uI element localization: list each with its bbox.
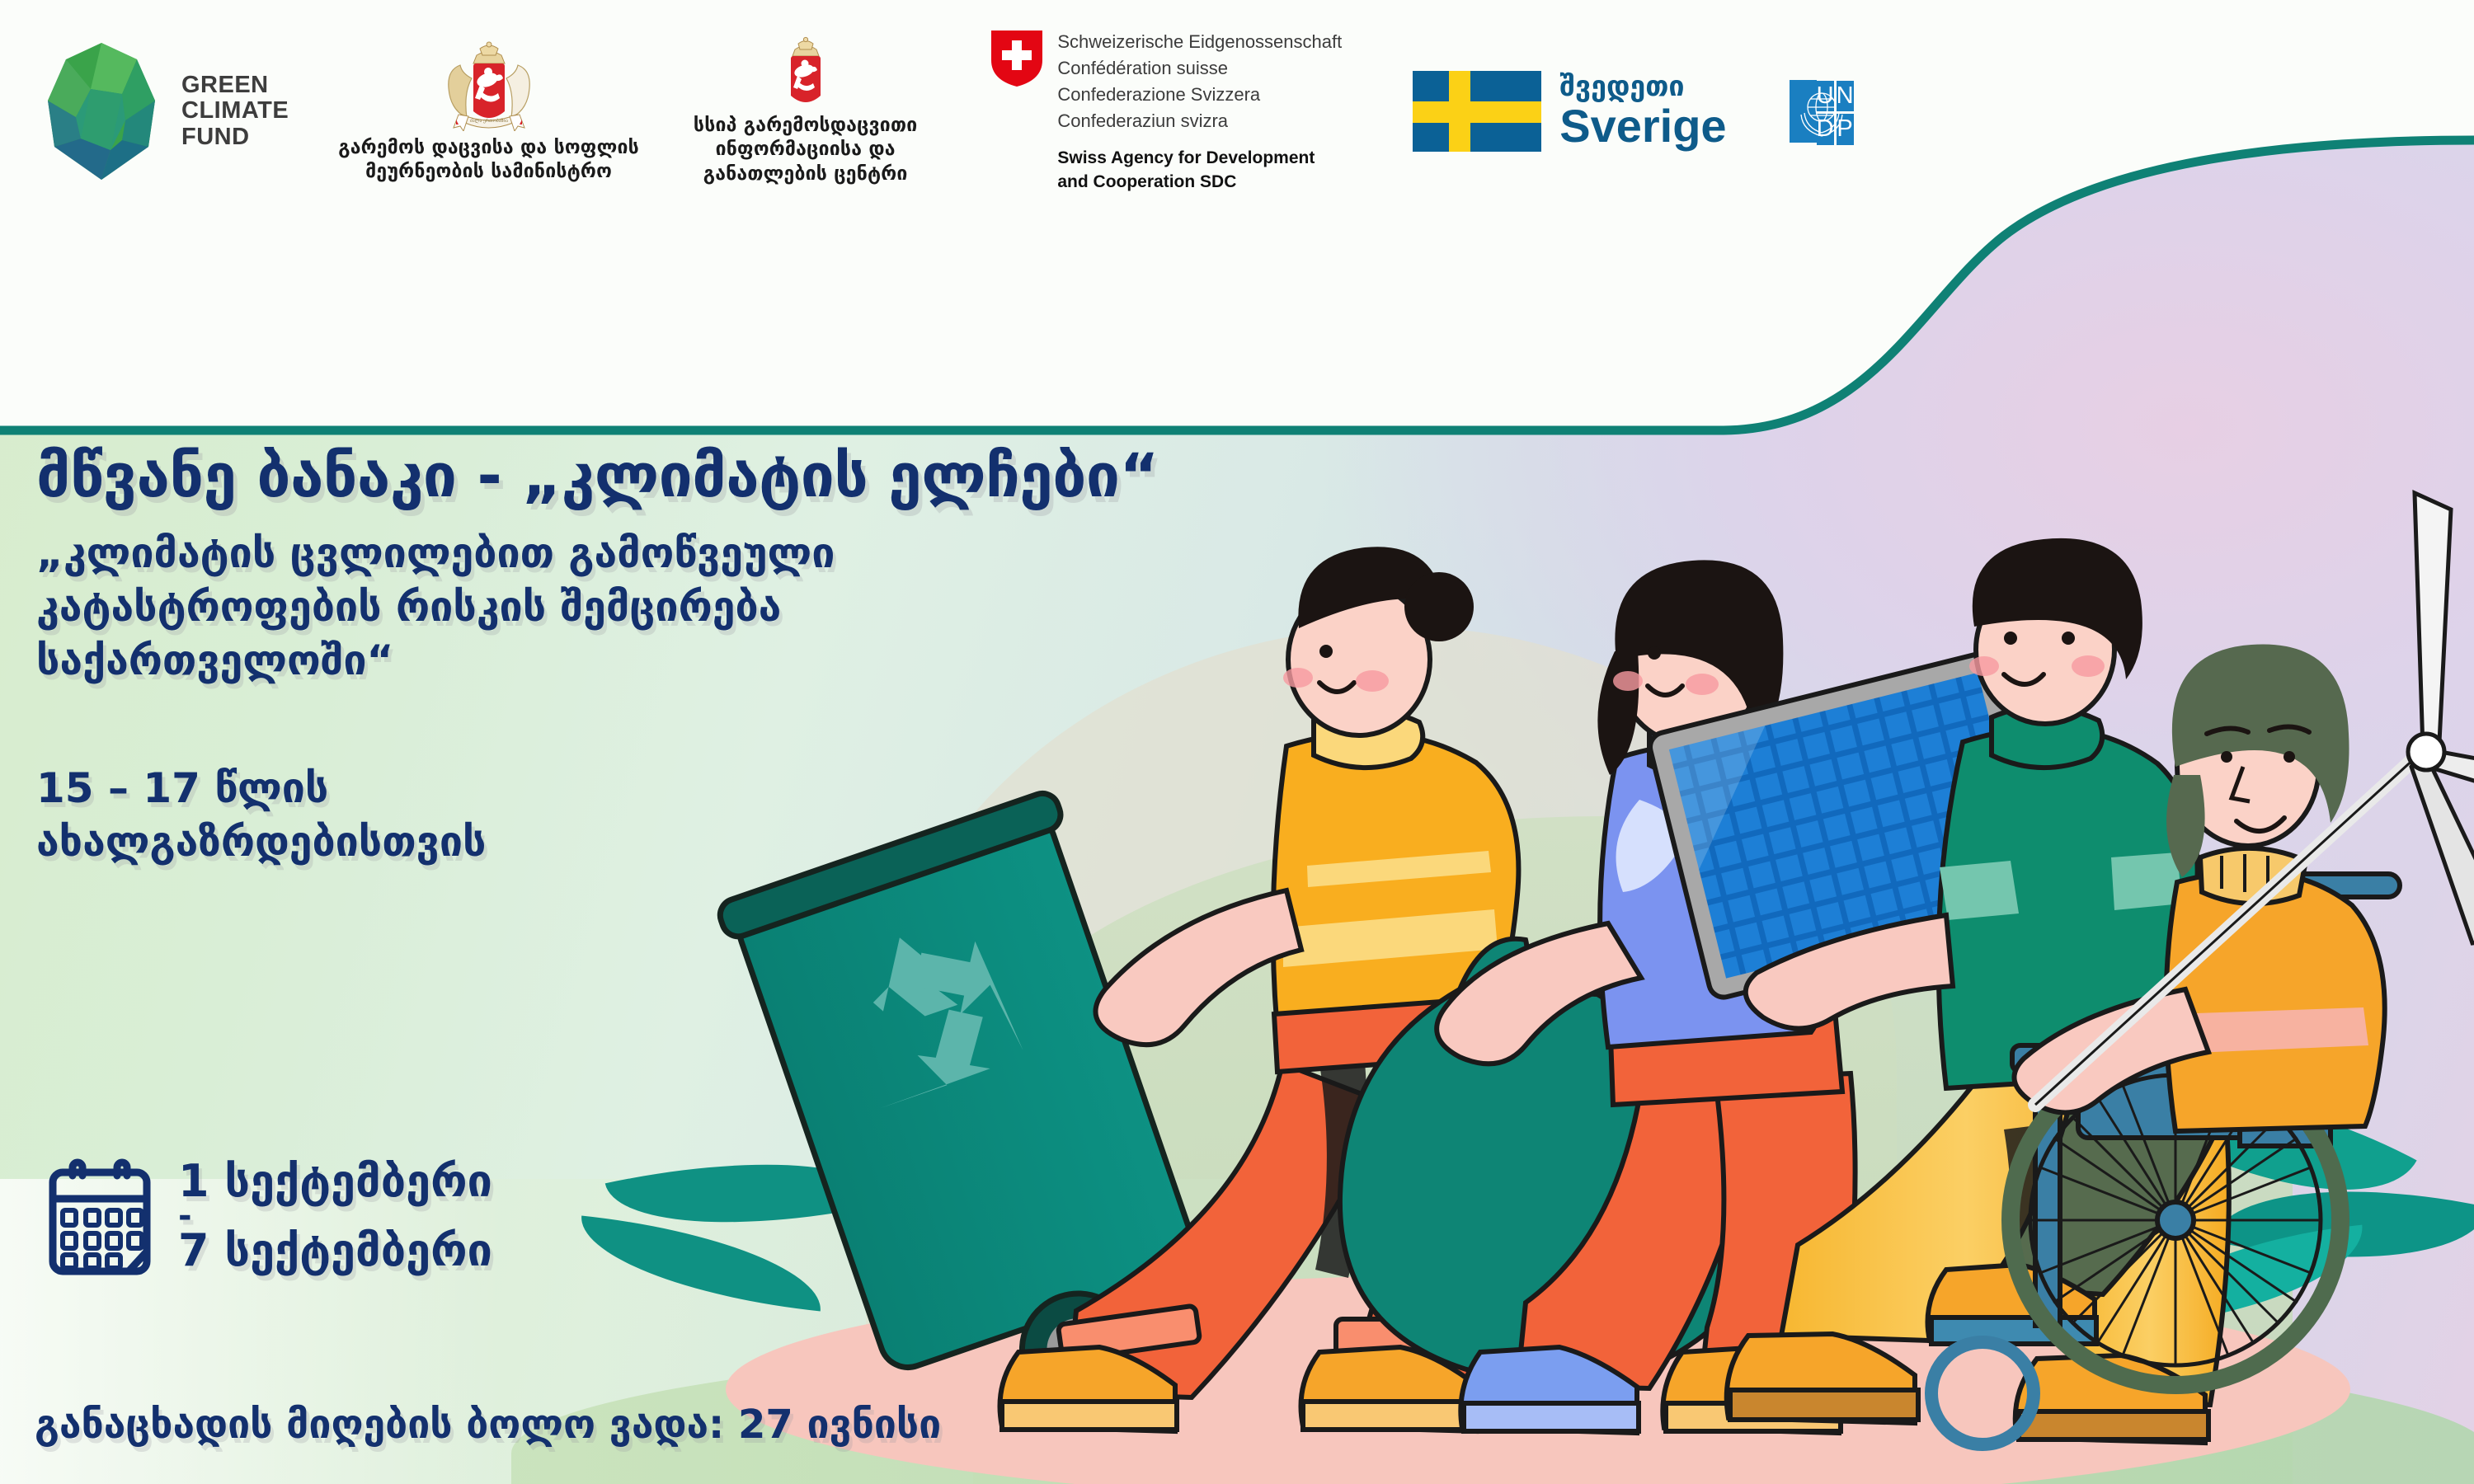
header-panel: GREEN CLIMATE FUND [0,0,2474,462]
project-subtitle: „კლიმატის ცვლილებით გამოწვეული კატასტროფ… [36,527,1356,688]
sweden-flag-icon [1413,71,1541,152]
georgia-shield-icon [780,36,831,109]
logo-swiss-cooperation: Schweizerische Eidgenossenschaft Confédé… [990,29,1342,194]
un-emblem-icon [1790,80,1817,143]
event-start-date: 1 სექტემბერი [178,1157,492,1206]
event-dates: 1 სექტემბერი - 7 სექტემბერი [178,1157,492,1276]
date-separator: - [178,1206,492,1226]
main-copy-block: მწვანე ბანაკი - „კლიმატის ელჩები“ „კლიმა… [36,445,1356,869]
event-end-date: 7 სექტემბერი [178,1226,492,1275]
sweden-wordmark: შვედეთი Sverige [1559,73,1726,151]
environmental-info-center-label: სსიპ გარემოსდაცვითი ინფორმაციისა და განა… [694,114,917,186]
svg-text:ძალა ერთობაშია: ძალა ერთობაშია [470,118,508,124]
logo-environmental-info-center: სსიპ გარემოსდაცვითი ინფორმაციისა და განა… [694,36,917,186]
application-deadline: განაცხადის მიღების ბოლო ვადა: 27 ივნისი [35,1402,941,1448]
green-climate-fund-wordmark: GREEN CLIMATE FUND [181,73,289,149]
event-date-block: 1 სექტემბერი - 7 სექტემბერი [46,1154,492,1278]
swiss-text-block: Schweizerische Eidgenossenschaft Confédé… [1057,29,1342,194]
target-audience-text: 15 – 17 წლის ახალგაზრდებისთვის [36,762,1356,869]
calendar-icon [46,1154,153,1278]
logo-ministry-of-environment: ძალა ერთობაშია გარემოს დაცვისა და სოფლის… [338,39,639,185]
logo-undp: U N D P [1790,78,1854,145]
page-title: მწვანე ბანაკი - „კლიმატის ელჩები“ [36,445,1356,509]
logo-sweden: შვედეთი Sverige [1413,71,1726,152]
green-climate-fund-icon [40,41,163,181]
poster-canvas: GREEN CLIMATE FUND [0,0,2474,1484]
logo-green-climate-fund: GREEN CLIMATE FUND [40,41,289,181]
georgia-coat-of-arms-icon: ძალა ერთობაშია [440,39,538,131]
partner-logo-row: GREEN CLIMATE FUND [0,0,2111,223]
ministry-of-environment-label: გარემოს დაცვისა და სოფლის მეურნეობის სამ… [338,136,639,185]
swiss-shield-icon [990,29,1044,88]
